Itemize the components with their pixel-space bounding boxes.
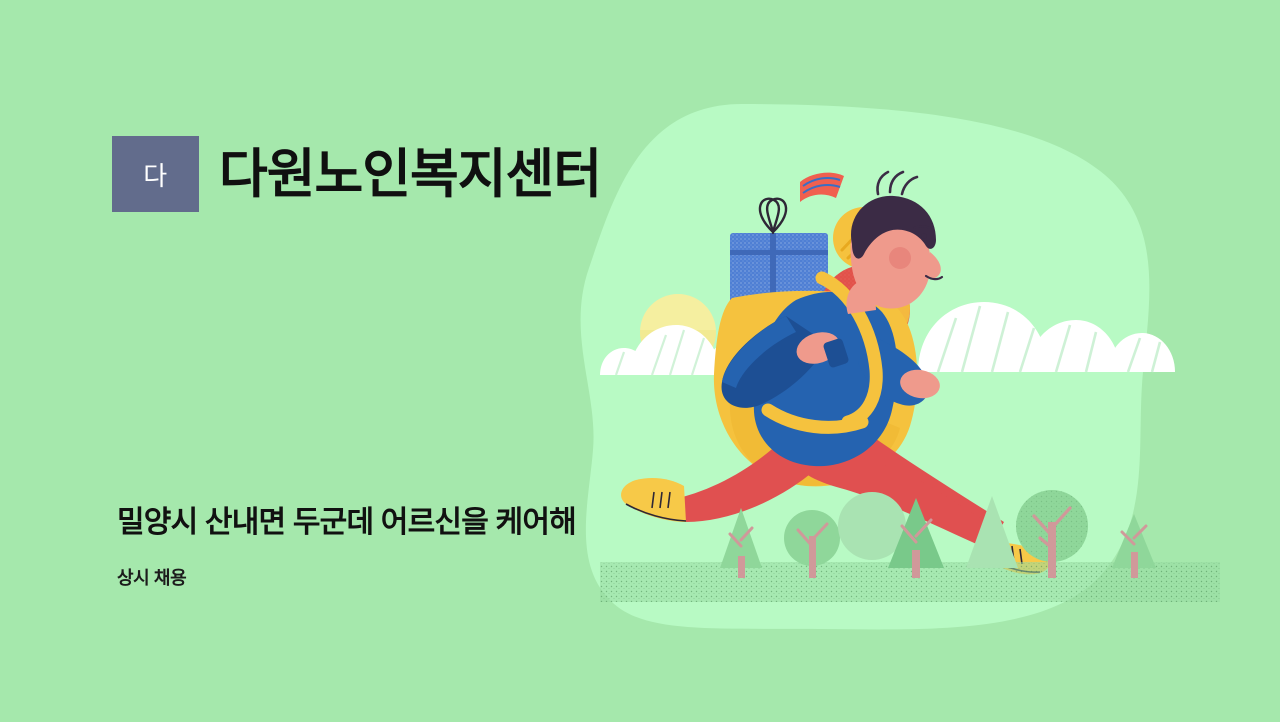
tree — [838, 492, 906, 560]
runner-figure — [621, 172, 1050, 574]
tree — [1016, 490, 1088, 578]
job-posting-banner: 다 다원노인복지센터 밀양시 산내면 두군데 어르신을 케어해 상시 채용 — [0, 0, 1280, 722]
striped-ball — [833, 207, 895, 269]
gift-sack — [714, 291, 917, 486]
tree — [784, 510, 840, 578]
brand-badge-initial: 다 — [143, 156, 167, 193]
job-title: 밀양시 산내면 두군데 어르신을 케어해 — [117, 503, 576, 542]
front-shoe — [986, 542, 1050, 574]
cloud-right — [918, 302, 1175, 372]
tree-row — [720, 490, 1156, 578]
gift-box — [730, 199, 828, 311]
posting-copy: 밀양시 산내면 두군데 어르신을 케어해 상시 채용 — [117, 503, 576, 590]
back-shoe — [621, 478, 686, 522]
tree — [1112, 514, 1156, 578]
ground-strip — [600, 562, 1220, 602]
brand-name: 다원노인복지센터 — [219, 148, 601, 201]
cloud-left — [600, 325, 766, 375]
employment-type-label: 상시 채용 — [117, 564, 576, 590]
brand-badge: 다 — [112, 136, 199, 212]
tree — [966, 496, 1018, 568]
background-blob-decoration — [0, 0, 1280, 722]
runner-illustration — [600, 170, 1220, 620]
confetti-ribbon — [800, 173, 844, 202]
tree — [888, 498, 944, 578]
tree — [720, 508, 762, 578]
sun-icon — [640, 294, 720, 375]
brand-header[interactable]: 다 다원노인복지센터 — [112, 136, 601, 212]
blob-shape — [581, 104, 1150, 629]
patterned-ball — [820, 265, 910, 355]
